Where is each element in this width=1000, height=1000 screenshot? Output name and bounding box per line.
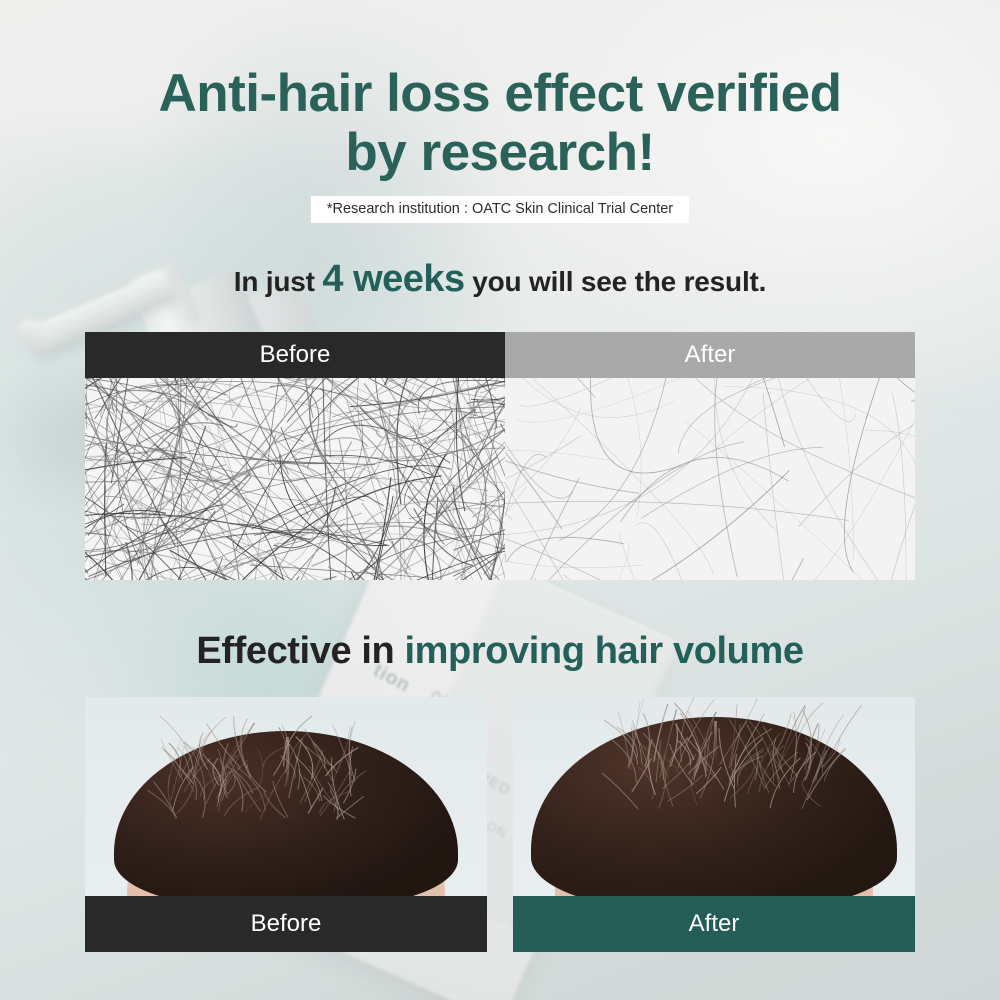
promo-infographic: tion 00 DDED ON fl. oz N w Anti-hair los…: [0, 0, 1000, 1000]
subheadline-duration: 4 weeks: [322, 258, 464, 300]
hair-mass: [114, 731, 458, 896]
face-after-panel: After: [513, 697, 915, 952]
strand-after-photo: [505, 378, 915, 580]
volume-headline-prefix: Effective in: [196, 630, 394, 672]
volume-headline: Effective in improving hair volume: [0, 630, 1000, 673]
face-before-panel: Before: [85, 697, 487, 952]
headline-line-1: Anti-hair loss effect verified: [158, 64, 841, 123]
volume-headline-highlight: improving hair volume: [404, 630, 803, 672]
face-before-photo: [85, 697, 487, 896]
hair-part-line: [286, 737, 289, 789]
strand-before-photo: [85, 378, 505, 580]
strand-after-label: After: [505, 332, 915, 378]
hair-strand-comparison: Before After: [85, 332, 915, 580]
main-headline: Anti-hair loss effect verified by resear…: [0, 64, 1000, 183]
subheadline-suffix: you will see the result.: [472, 266, 766, 297]
hair-mass: [531, 717, 897, 896]
pump-nozzle-tip: [16, 318, 55, 351]
subheadline: In just 4 weeks you will see the result.: [0, 258, 1000, 301]
hair-strand-texture: [505, 378, 915, 580]
strand-before-label: Before: [85, 332, 505, 378]
hair-part-line: [714, 721, 717, 761]
headline-line-2: by research!: [0, 123, 1000, 182]
hair-strand-texture: [85, 378, 505, 580]
face-before-label: Before: [85, 896, 487, 952]
face-after-photo: [513, 697, 915, 896]
research-institution-note: *Research institution : OATC Skin Clinic…: [311, 196, 689, 223]
face-after-label: After: [513, 896, 915, 952]
subheadline-prefix: In just: [234, 266, 315, 297]
